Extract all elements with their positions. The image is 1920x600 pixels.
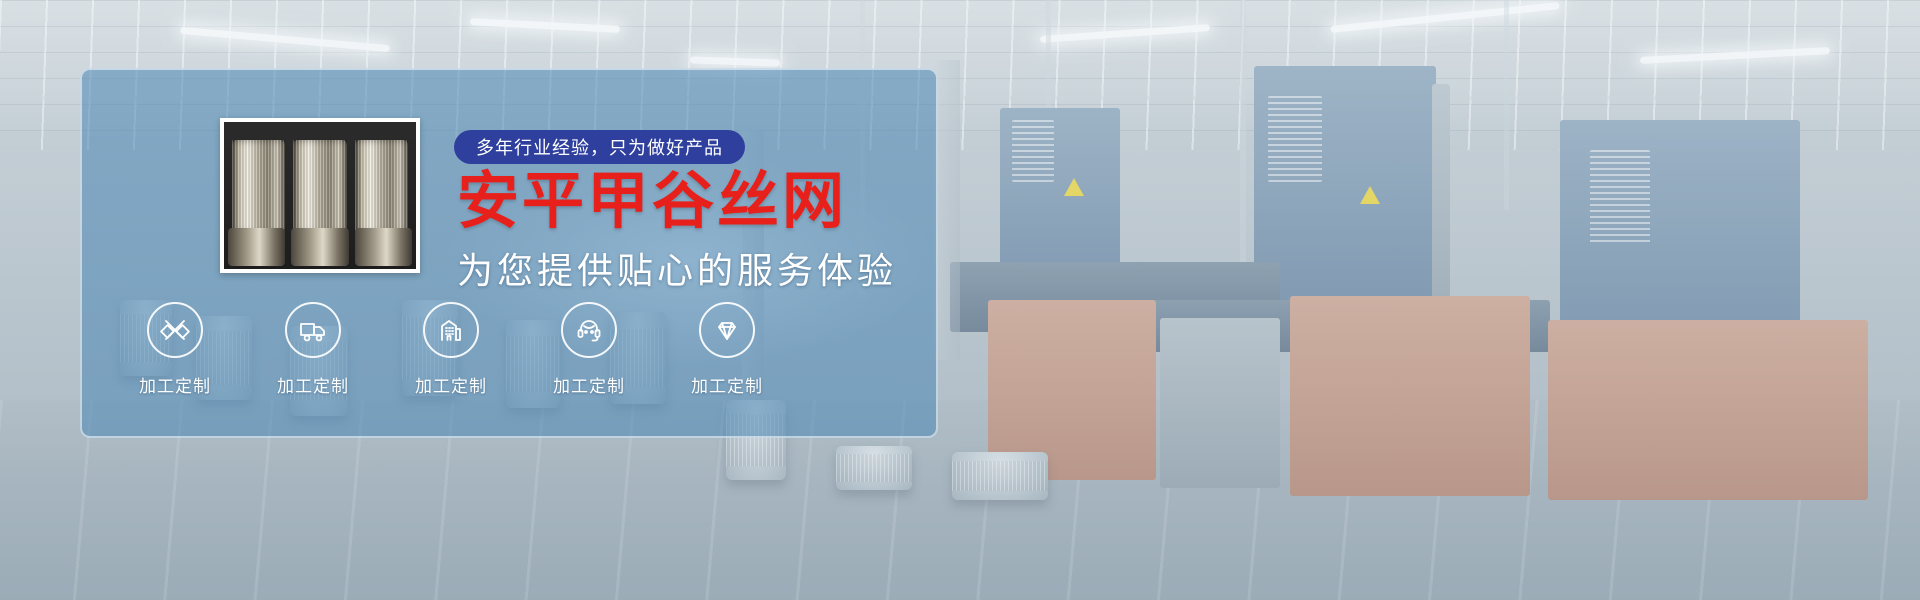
feature-item-2[interactable]: 加工定制 (244, 302, 382, 397)
building-icon (423, 302, 479, 358)
wire-coil (293, 140, 347, 234)
feature-label: 加工定制 (691, 372, 763, 397)
company-subtitle: 为您提供贴心的服务体验 (457, 242, 897, 294)
feature-item-4[interactable]: 加工定制 (520, 302, 658, 397)
hero-banner: 多年行业经验，只为做好产品 安平甲谷丝网 为您提供贴心的服务体验 加工定制 (0, 0, 1920, 600)
headset-icon (561, 302, 617, 358)
feature-item-1[interactable]: 加工定制 (106, 302, 244, 397)
wire-coil (228, 228, 286, 266)
feature-item-3[interactable]: 加工定制 (382, 302, 520, 397)
company-title: 安平甲谷丝网 (457, 170, 847, 232)
diamond-icon (699, 302, 755, 358)
feature-label: 加工定制 (139, 372, 211, 397)
tagline-pill: 多年行业经验，只为做好产品 (454, 130, 745, 164)
content-panel: 多年行业经验，只为做好产品 安平甲谷丝网 为您提供贴心的服务体验 加工定制 (80, 68, 938, 438)
wire-coil (291, 228, 349, 266)
wire-coil (355, 228, 413, 266)
wire-coil (355, 140, 409, 234)
feature-label: 加工定制 (553, 372, 625, 397)
product-photo (220, 118, 420, 273)
truck-icon (285, 302, 341, 358)
scissors-icon (147, 302, 203, 358)
feature-label: 加工定制 (415, 372, 487, 397)
feature-list: 加工定制 加工定制 (106, 302, 916, 422)
feature-item-5[interactable]: 加工定制 (658, 302, 796, 397)
feature-label: 加工定制 (277, 372, 349, 397)
wire-coil (232, 140, 286, 234)
